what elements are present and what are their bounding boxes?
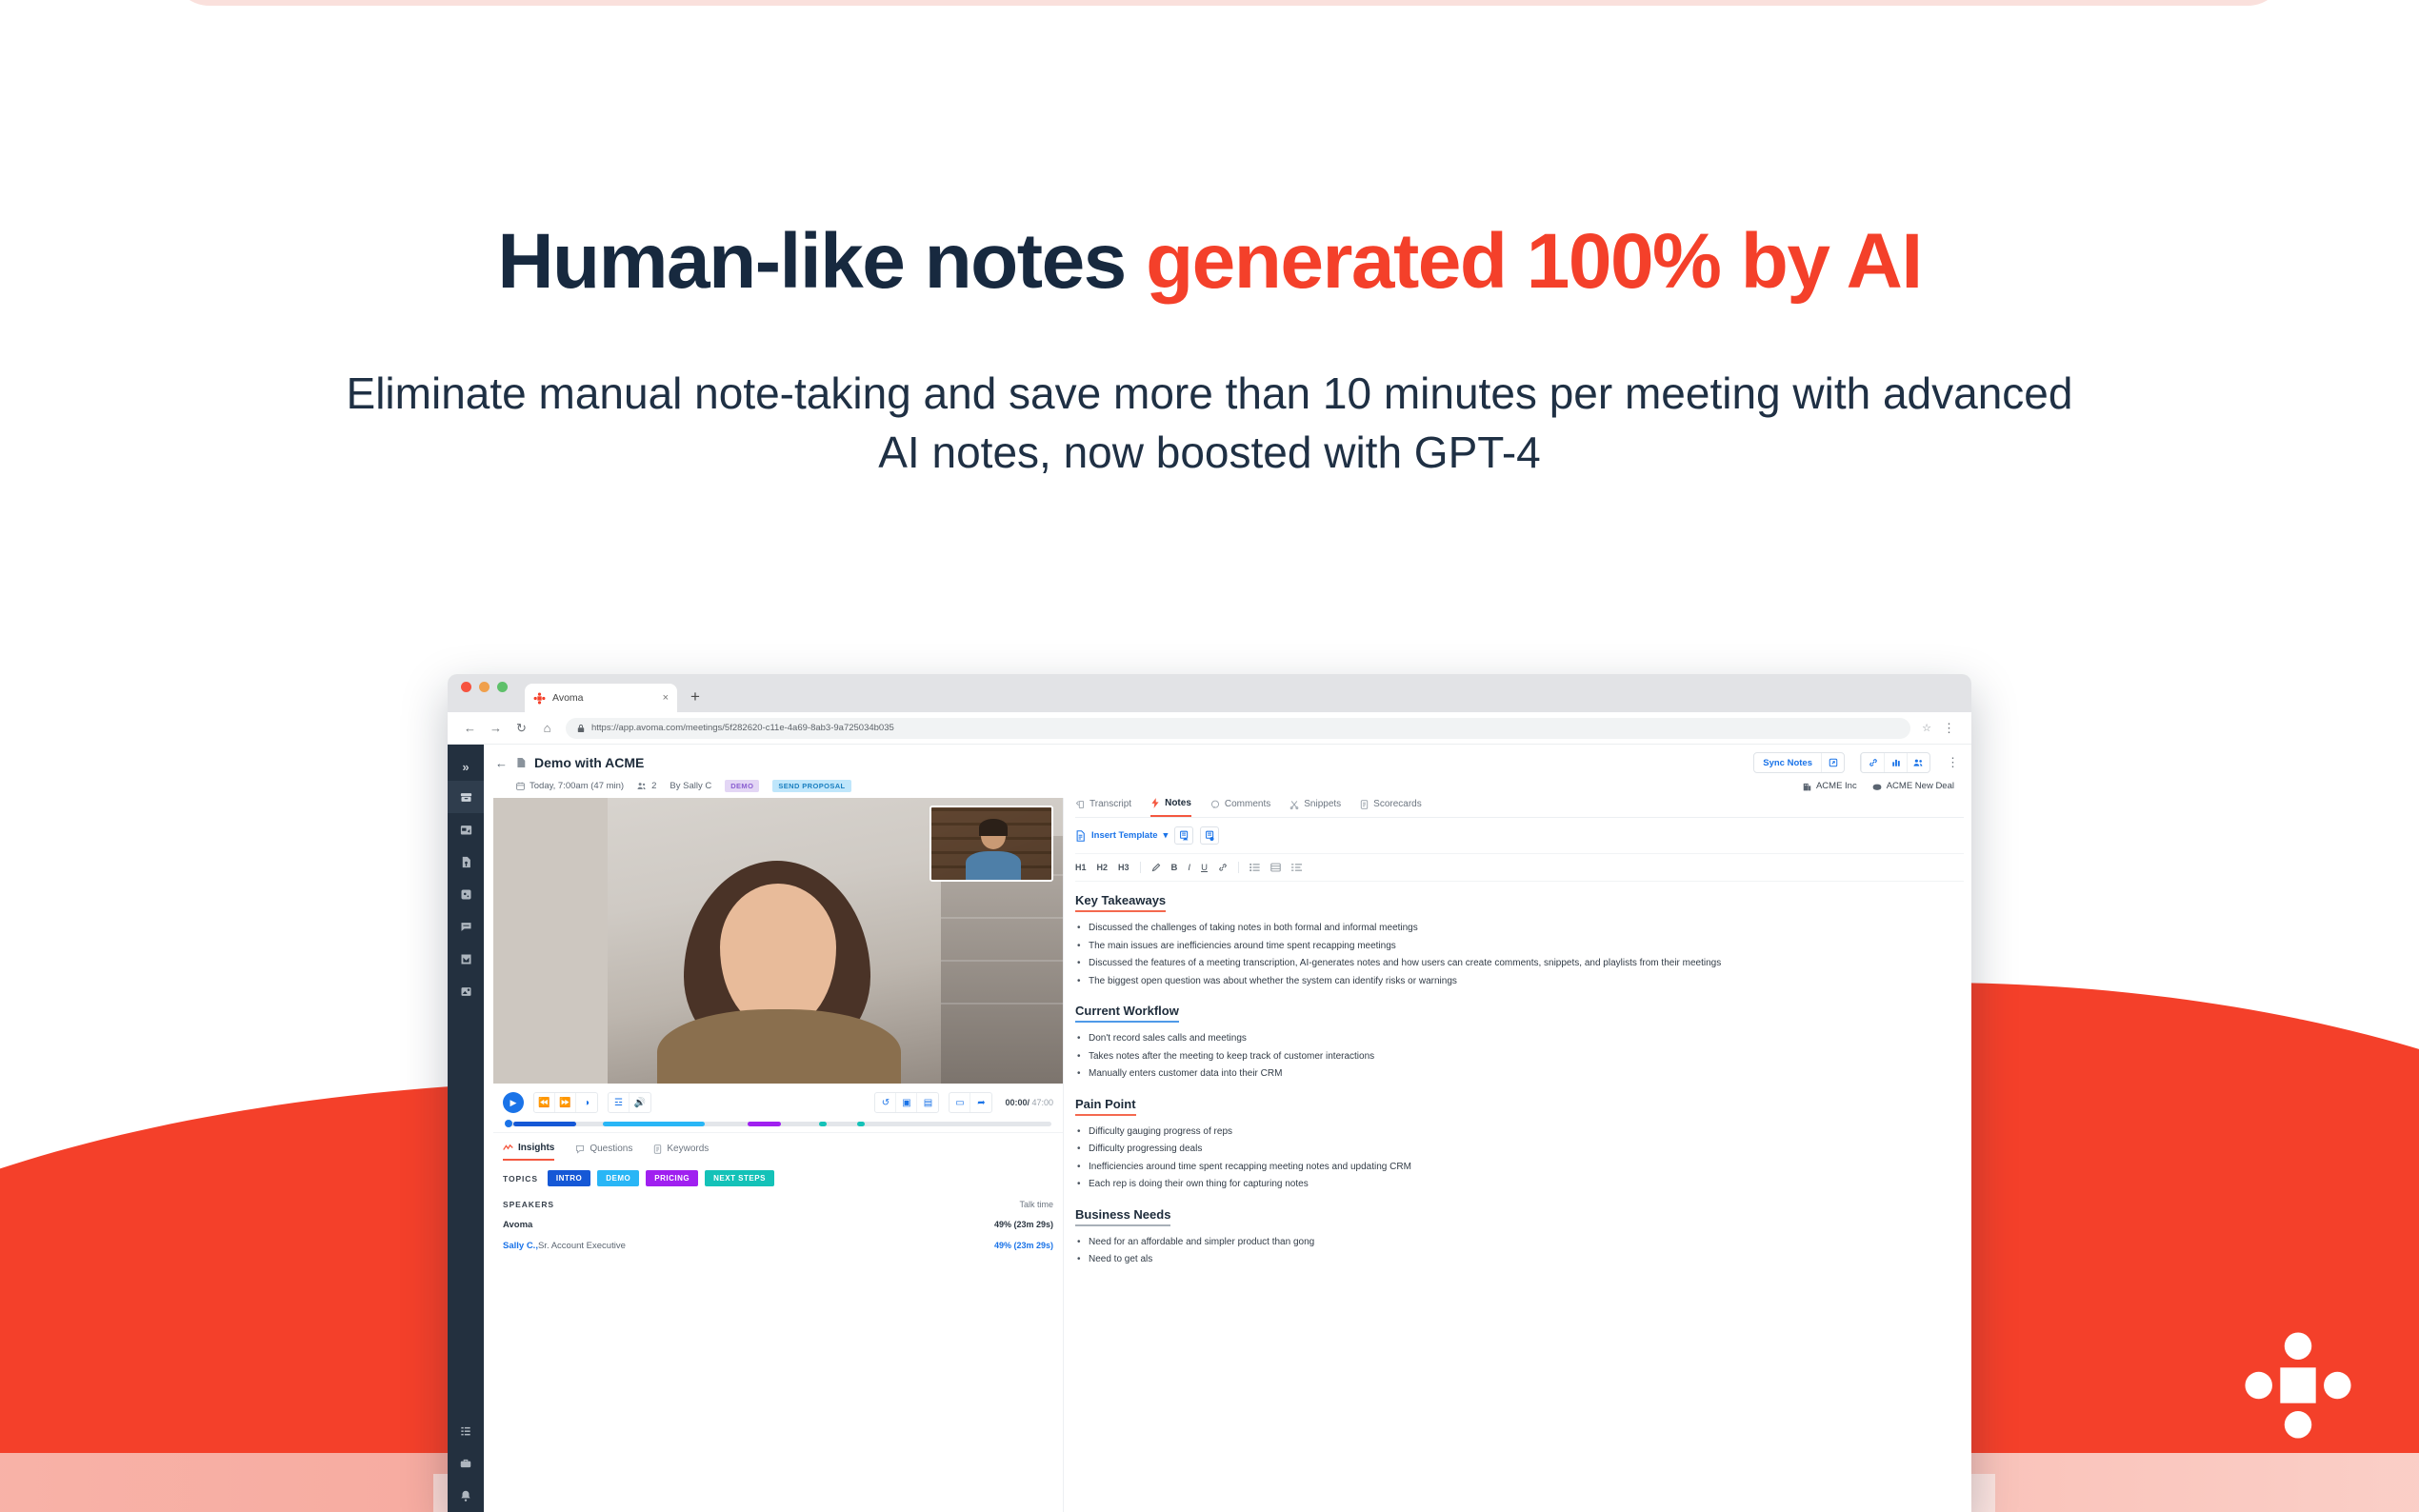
- keywords-icon: [653, 1144, 662, 1154]
- tab-notes-label: Notes: [1165, 798, 1191, 808]
- playback-group-right: ↺ ▣ ▤: [874, 1092, 939, 1113]
- meeting-attendees: 2: [637, 781, 656, 791]
- home-icon[interactable]: ⌂: [540, 721, 554, 735]
- meeting-video[interactable]: [493, 798, 1063, 1084]
- browser-tab[interactable]: Avoma ×: [525, 684, 677, 712]
- speaker-role: Sr. Account Executive: [538, 1241, 626, 1251]
- deal-name: ACME New Deal: [1887, 781, 1954, 791]
- link-button[interactable]: [1218, 863, 1228, 872]
- player-timeline[interactable]: [505, 1122, 1051, 1126]
- bookmark-star-icon[interactable]: ☆: [1922, 722, 1931, 734]
- tab-insights-label: Insights: [518, 1143, 554, 1153]
- notes-tab-bar: Transcript Notes Comments: [1075, 798, 1964, 818]
- playback-group-right2: ▭ ➦: [949, 1092, 992, 1113]
- section-title: Current Workflow: [1075, 1004, 1179, 1023]
- section-bullets: Difficulty gauging progress of reps Diff…: [1075, 1124, 1964, 1192]
- list-item: Takes notes after the meeting to keep tr…: [1075, 1049, 1964, 1064]
- list-item: Difficulty gauging progress of reps: [1075, 1124, 1964, 1140]
- section-title: Business Needs: [1075, 1207, 1170, 1226]
- volume-icon[interactable]: 🔊: [630, 1093, 650, 1112]
- list-item: Need for an affordable and simpler produ…: [1075, 1235, 1964, 1250]
- close-tab-icon[interactable]: ×: [663, 692, 669, 704]
- video-pip-participant[interactable]: [930, 806, 1053, 882]
- speakers-header: SPEAKERS Talk time: [503, 1200, 1053, 1209]
- section-title: Pain Point: [1075, 1097, 1136, 1116]
- heading-1-button[interactable]: H1: [1075, 863, 1087, 872]
- speakers-label: SPEAKERS: [503, 1200, 554, 1209]
- section-bullets: Don't record sales calls and meetings Ta…: [1075, 1031, 1964, 1082]
- list-item: Discussed the challenges of taking notes…: [1075, 921, 1964, 936]
- list-item: Inefficiencies around time spent recappi…: [1075, 1160, 1964, 1175]
- tab-keywords-label: Keywords: [667, 1144, 709, 1154]
- hero-subtitle: Eliminate manual note-taking and save mo…: [338, 364, 2081, 482]
- notes-icon: [1150, 798, 1160, 808]
- timeline-segment-next-steps-1[interactable]: [819, 1122, 827, 1126]
- forward-icon[interactable]: →: [489, 721, 503, 735]
- tab-comments[interactable]: Comments: [1210, 798, 1270, 817]
- notes-section-key-takeaways: Key Takeaways Discussed the challenges o…: [1075, 893, 1964, 988]
- total-time: 47:00: [1030, 1098, 1053, 1107]
- play-button[interactable]: ▶: [503, 1092, 524, 1113]
- loop-icon[interactable]: ↺: [875, 1093, 896, 1112]
- chevron-down-icon: ▾: [1164, 830, 1169, 841]
- speaker-row-person[interactable]: Sally C., Sr. Account Executive 49% (23m…: [503, 1241, 1053, 1251]
- hero-section: Human-like notes generated 100% by AI El…: [0, 0, 2419, 482]
- notes-section-pain-point: Pain Point Difficulty gauging progress o…: [1075, 1097, 1964, 1192]
- sync-notes-group: Sync Notes: [1753, 752, 1845, 773]
- deal-icon: [1872, 782, 1882, 791]
- meeting-title: Demo with ACME: [534, 755, 644, 770]
- skip-forward-icon[interactable]: ⏩: [555, 1093, 576, 1112]
- comments-icon: [1210, 800, 1220, 809]
- timeline-playhead[interactable]: [505, 1120, 512, 1127]
- indent-button[interactable]: [1291, 863, 1302, 872]
- browser-tab-title: Avoma: [552, 692, 656, 704]
- company-icon: [1803, 782, 1811, 791]
- sidebar-item-calendar[interactable]: [448, 813, 484, 846]
- underline-button[interactable]: U: [1201, 863, 1208, 873]
- pen-button[interactable]: [1151, 863, 1161, 872]
- video-wall: [493, 798, 608, 1084]
- url-input[interactable]: https://app.avoma.com/meetings/5f282620-…: [566, 718, 1910, 739]
- toolbar-divider: [1238, 862, 1239, 873]
- browser-address-bar: ← → ↻ ⌂ https://app.avoma.com/meetings/5…: [448, 712, 1971, 745]
- topics-label: TOPICS: [503, 1174, 538, 1184]
- sidebar-item-notes[interactable]: [448, 846, 484, 878]
- back-icon[interactable]: ←: [463, 721, 477, 735]
- meeting-meta-row: Today, 7:00am (47 min) 2 By Sally C DEMO…: [516, 780, 1960, 792]
- speaker-row-org[interactable]: Avoma 49% (23m 29s): [503, 1220, 1053, 1230]
- list-item: Don't record sales calls and meetings: [1075, 1031, 1964, 1046]
- open-external-icon[interactable]: [1821, 752, 1844, 773]
- playback-group-left2: ☲ 🔊: [608, 1092, 651, 1113]
- tab-scorecards[interactable]: Scorecards: [1360, 798, 1422, 817]
- clip-icon[interactable]: ▭: [950, 1093, 970, 1112]
- main-panes: ▶ ⏪ ⏩ ◑ ☲ 🔊 ↺: [484, 792, 1971, 1512]
- tab-transcript[interactable]: Transcript: [1075, 798, 1131, 817]
- tab-scorecards-label: Scorecards: [1373, 799, 1422, 809]
- current-time: 00:00/: [1005, 1098, 1030, 1107]
- insert-template-button[interactable]: Insert Template ▾: [1075, 830, 1168, 842]
- topic-demo[interactable]: DEMO: [597, 1170, 639, 1186]
- template-doc-icon: [1075, 830, 1086, 842]
- account-link[interactable]: ACME Inc: [1803, 781, 1857, 791]
- section-bullets: Need for an affordable and simpler produ…: [1075, 1235, 1964, 1267]
- video-player-controls: ▶ ⏪ ⏩ ◑ ☲ 🔊 ↺: [493, 1084, 1063, 1132]
- account-name: ACME Inc: [1816, 781, 1857, 791]
- list-item: Discussed the features of a meeting tran…: [1075, 956, 1964, 971]
- browser-window: Avoma × + ← → ↻ ⌂ https://app.avoma.com/…: [448, 674, 1971, 1512]
- sidebar-item-meetings[interactable]: [448, 781, 484, 813]
- list-item: Difficulty progressing deals: [1075, 1142, 1964, 1157]
- sidebar-item-briefcase[interactable]: [448, 1447, 484, 1480]
- video-pane: ▶ ⏪ ⏩ ◑ ☲ 🔊 ↺: [493, 798, 1063, 1512]
- topic-intro[interactable]: INTRO: [548, 1170, 590, 1186]
- sidebar-item-deals[interactable]: [448, 878, 484, 910]
- list-item: Need to get als: [1075, 1252, 1964, 1267]
- tab-insights[interactable]: Insights: [503, 1143, 554, 1161]
- speed-icon[interactable]: ◑: [576, 1093, 597, 1112]
- tab-transcript-label: Transcript: [1090, 799, 1131, 809]
- meeting-time: Today, 7:00am (47 min): [516, 781, 624, 791]
- bullet-list-button[interactable]: [1249, 863, 1260, 872]
- timeline-segment-pricing[interactable]: [748, 1122, 780, 1126]
- speaker-talk-time: 49% (23m 29s): [994, 1241, 1053, 1250]
- meeting-time-text: Today, 7:00am (47 min): [530, 781, 624, 791]
- tag-demo[interactable]: DEMO: [725, 780, 759, 792]
- video-speaker: [636, 844, 922, 1084]
- tab-comments-label: Comments: [1225, 799, 1270, 809]
- italic-button[interactable]: I: [1188, 863, 1190, 873]
- topics-row: TOPICS INTRO DEMO PRICING NEXT STEPS: [493, 1161, 1063, 1186]
- bookmark-icon[interactable]: ▤: [917, 1093, 938, 1112]
- list-item: The main issues are inefficiencies aroun…: [1075, 939, 1964, 954]
- browser-tab-bar: Avoma × +: [448, 674, 1971, 712]
- player-timestamp: 00:00/ 47:00: [1005, 1098, 1053, 1107]
- sync-notes-button[interactable]: Sync Notes: [1754, 752, 1821, 773]
- avoma-favicon: [533, 692, 546, 705]
- topic-pricing[interactable]: PRICING: [646, 1170, 698, 1186]
- meeting-doc-icon: [516, 757, 526, 768]
- list-item: Manually enters customer data into their…: [1075, 1066, 1964, 1082]
- avoma-app: »: [448, 745, 1971, 1512]
- section-title: Key Takeaways: [1075, 893, 1166, 912]
- comment-icon[interactable]: ▣: [896, 1093, 917, 1112]
- calendar-icon: [516, 782, 525, 790]
- meeting-header: ← Demo with ACME Sync Notes: [484, 745, 1971, 792]
- sidebar-item-playlists[interactable]: [448, 975, 484, 1007]
- notes-section-business-needs: Business Needs Need for an affordable an…: [1075, 1207, 1964, 1267]
- share-icon[interactable]: ➦: [970, 1093, 991, 1112]
- speaker-name: Avoma: [503, 1220, 532, 1230]
- headline-primary: Human-like notes: [497, 218, 1146, 305]
- notes-section-current-workflow: Current Workflow Don't record sales call…: [1075, 1004, 1964, 1082]
- list-item: The biggest open question was about whet…: [1075, 974, 1964, 989]
- link-icon[interactable]: [1861, 752, 1884, 773]
- numbered-list-button[interactable]: [1270, 863, 1281, 872]
- avoma-logo: [2242, 1329, 2354, 1442]
- speaker-talk-time: 49% (23m 29s): [994, 1220, 1053, 1229]
- new-tab-icon[interactable]: +: [690, 687, 700, 712]
- tab-questions[interactable]: Questions: [575, 1143, 632, 1161]
- playback-group-left: ⏪ ⏩ ◑: [533, 1092, 598, 1113]
- minimize-window-button[interactable]: [479, 682, 490, 692]
- section-bullets: Discussed the challenges of taking notes…: [1075, 921, 1964, 988]
- ai-regenerate-notes-icon[interactable]: [1200, 826, 1219, 845]
- app-content: ← Demo with ACME Sync Notes: [484, 745, 1971, 1512]
- attendees-count: 2: [651, 781, 656, 791]
- talk-time-label: Talk time: [1019, 1200, 1053, 1209]
- heading-2-button[interactable]: H2: [1097, 863, 1109, 872]
- share-people-icon[interactable]: [1907, 752, 1929, 773]
- question-icon: [575, 1144, 585, 1154]
- sidebar-item-comments[interactable]: [448, 910, 484, 943]
- meeting-more-menu-icon[interactable]: ⋮: [1947, 755, 1960, 770]
- browser-menu-icon[interactable]: ⋮: [1943, 721, 1956, 736]
- sidebar-item-analytics[interactable]: [448, 943, 484, 975]
- page-title: Human-like notes generated 100% by AI: [0, 221, 2419, 303]
- topic-next-steps[interactable]: NEXT STEPS: [705, 1170, 774, 1186]
- headline-accent: generated 100% by AI: [1146, 218, 1922, 305]
- bold-button[interactable]: B: [1171, 863, 1178, 873]
- skip-back-icon[interactable]: ⏪: [534, 1093, 555, 1112]
- toolbar-divider: [1140, 862, 1141, 873]
- speaker-name: Sally C.,: [503, 1241, 538, 1251]
- timeline-segment-next-steps-2[interactable]: [857, 1122, 865, 1126]
- tab-notes[interactable]: Notes: [1150, 798, 1191, 817]
- transcript-icon: [1075, 800, 1085, 809]
- heading-3-button[interactable]: H3: [1118, 863, 1130, 872]
- insights-icon: [503, 1144, 513, 1152]
- url-text: https://app.avoma.com/meetings/5f282620-…: [591, 723, 894, 733]
- attendees-icon: [637, 782, 647, 790]
- insert-template-label: Insert Template: [1091, 830, 1158, 841]
- timeline-segment-demo[interactable]: [603, 1122, 704, 1126]
- scorecards-icon: [1360, 800, 1369, 809]
- tab-questions-label: Questions: [590, 1144, 632, 1154]
- tab-keywords[interactable]: Keywords: [653, 1143, 709, 1161]
- snippets-icon: [1289, 800, 1299, 809]
- meeting-owner: By Sally C: [670, 781, 711, 791]
- sidebar-expand-button[interactable]: »: [448, 752, 484, 781]
- format-toolbar: H1 H2 H3 B I U: [1075, 854, 1964, 882]
- deal-link[interactable]: ACME New Deal: [1872, 781, 1954, 791]
- close-window-button[interactable]: [461, 682, 471, 692]
- meeting-crm-links: ACME Inc ACME New Deal: [1803, 781, 1960, 791]
- tab-snippets[interactable]: Snippets: [1289, 798, 1341, 817]
- crm-sync-icon[interactable]: [1884, 752, 1907, 773]
- ai-fill-notes-icon[interactable]: [1174, 826, 1193, 845]
- notes-pane: Transcript Notes Comments: [1063, 798, 1964, 1512]
- maximize-window-button[interactable]: [497, 682, 508, 692]
- speakers-section: SPEAKERS Talk time Avoma 49% (23m 29s) S…: [493, 1186, 1063, 1251]
- tab-snippets-label: Snippets: [1304, 799, 1341, 809]
- template-toolbar: Insert Template ▾: [1075, 818, 1964, 854]
- tag-send-proposal[interactable]: SEND PROPOSAL: [772, 780, 850, 792]
- back-to-meetings-button[interactable]: ←: [495, 756, 508, 770]
- reload-icon[interactable]: ↻: [514, 721, 529, 736]
- lock-icon: [577, 724, 585, 733]
- list-item: Each rep is doing their own thing for ca…: [1075, 1177, 1964, 1192]
- sidebar-rail: »: [448, 745, 484, 1512]
- header-actions-group: [1860, 752, 1930, 773]
- equalizer-icon[interactable]: ☲: [609, 1093, 630, 1112]
- notes-content[interactable]: Key Takeaways Discussed the challenges o…: [1075, 882, 1964, 1283]
- timeline-segment-intro[interactable]: [513, 1122, 576, 1126]
- sidebar-item-tasks[interactable]: [448, 1415, 484, 1447]
- insights-tabs: Insights Questions Keywords: [493, 1132, 1063, 1161]
- sidebar-item-notifications[interactable]: [448, 1480, 484, 1512]
- window-controls[interactable]: [461, 674, 508, 712]
